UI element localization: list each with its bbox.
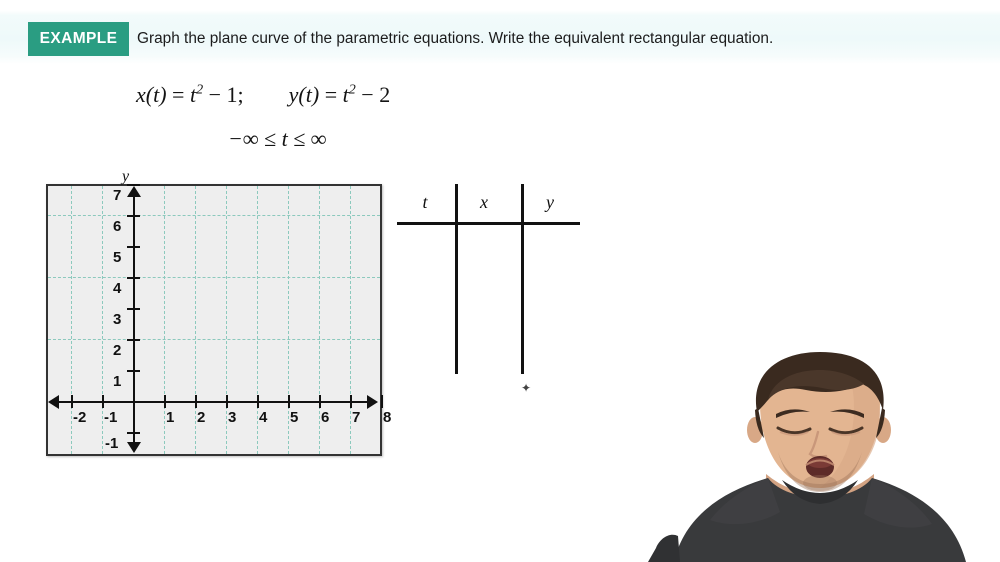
x-axis-tick [71, 395, 73, 408]
y-axis-label: 4 [113, 280, 121, 297]
y-equation-tail: − 2 [361, 82, 390, 107]
values-table[interactable]: txy [390, 184, 590, 384]
x-axis-label: 3 [228, 409, 236, 426]
grid-line-horizontal [48, 339, 380, 340]
x-equation-name: x(t) [136, 82, 167, 107]
x-axis-label: 8 [383, 409, 391, 426]
x-axis-tick [195, 395, 197, 408]
grid-line-vertical [319, 186, 320, 454]
x-axis-label: 5 [290, 409, 298, 426]
grid-line-vertical [350, 186, 351, 454]
x-equation-tail: − 1; [209, 82, 244, 107]
grid-line-vertical [164, 186, 165, 454]
x-axis-arrow-right [367, 395, 378, 409]
grid-line-vertical [288, 186, 289, 454]
x-axis-tick [102, 395, 104, 408]
y-equals-sign: = [325, 82, 337, 107]
pointer-cursor-icon: ✦ [521, 383, 531, 393]
x-axis-label: 6 [321, 409, 329, 426]
y-axis-tick [127, 215, 140, 217]
parameter-domain-line: −∞ ≤ t ≤ ∞ [228, 126, 326, 152]
x-axis-tick [381, 395, 383, 408]
x-axis-label: 2 [197, 409, 205, 426]
x-axis-tick [257, 395, 259, 408]
x-axis-arrow-left [48, 395, 59, 409]
coordinate-plane-graph[interactable]: -2-1123456787654321-1y [46, 184, 382, 456]
y-axis-tick [127, 339, 140, 341]
table-header-t: t [396, 192, 454, 213]
table-column-divider [521, 184, 524, 374]
grid-line-vertical [102, 186, 103, 454]
table-header-x: x [455, 192, 513, 213]
x-axis-tick [319, 395, 321, 408]
y-axis-arrow-down [127, 442, 141, 453]
y-axis-tick [127, 432, 140, 434]
grid-line-horizontal [48, 215, 380, 216]
y-axis-tick [127, 308, 140, 310]
grid-line-vertical [71, 186, 72, 454]
table-column-divider [455, 184, 458, 374]
y-axis [133, 190, 135, 450]
x-axis-label: -1 [104, 409, 117, 426]
x-axis-tick [350, 395, 352, 408]
table-header-y: y [521, 192, 579, 213]
y-axis-arrow-up [127, 186, 141, 197]
y-axis-label: -1 [105, 435, 118, 452]
y-axis-name-label: y [122, 168, 129, 186]
x-axis-label: 7 [352, 409, 360, 426]
grid-line-vertical [226, 186, 227, 454]
problem-prompt-text: Graph the plane curve of the parametric … [137, 22, 773, 56]
y-axis-tick [127, 370, 140, 372]
x-axis-label: 4 [259, 409, 267, 426]
x-axis-tick [164, 395, 166, 408]
y-axis-label: 6 [113, 218, 121, 235]
y-equation-name: y(t) [289, 82, 320, 107]
example-badge: EXAMPLE [28, 22, 129, 56]
y-axis-label: 7 [113, 187, 121, 204]
x-axis-label: -2 [73, 409, 86, 426]
y-axis-label: 5 [113, 249, 121, 266]
example-header-bar: EXAMPLE Graph the plane curve of the par… [0, 0, 1000, 64]
y-axis-label: 2 [113, 342, 121, 359]
x-axis-tick [288, 395, 290, 408]
x-exponent: 2 [196, 82, 203, 98]
x-equals-sign: = [172, 82, 184, 107]
graph-plot-area: -2-1123456787654321-1y [48, 186, 380, 454]
instructor-video-overlay [640, 352, 1000, 562]
y-axis-label: 3 [113, 311, 121, 328]
x-axis-label: 1 [166, 409, 174, 426]
table-header-divider [397, 222, 580, 225]
y-axis-tick [127, 246, 140, 248]
y-axis-label: 1 [113, 373, 121, 390]
x-axis-tick [226, 395, 228, 408]
grid-line-horizontal [48, 277, 380, 278]
grid-line-vertical [257, 186, 258, 454]
y-axis-tick [127, 277, 140, 279]
x-axis [52, 401, 376, 403]
instructor-portrait [640, 352, 1000, 562]
parametric-equations-line: x(t) = t2 − 1; y(t) = t2 − 2 [136, 82, 390, 108]
grid-line-vertical [195, 186, 196, 454]
y-exponent: 2 [349, 82, 356, 98]
